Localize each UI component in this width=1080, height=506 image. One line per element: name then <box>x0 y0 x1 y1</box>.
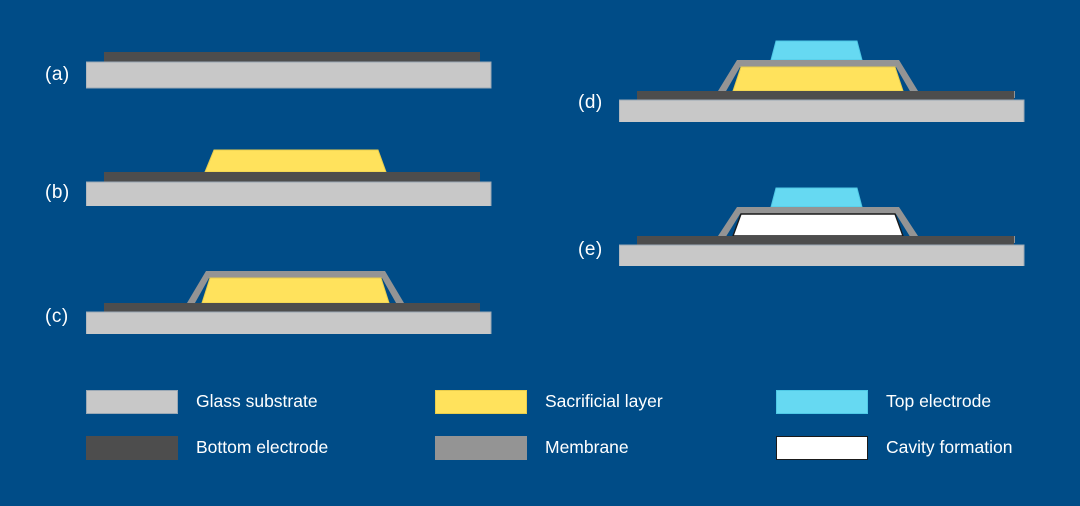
glass-substrate-layer <box>619 245 1024 266</box>
panel-a-diagram <box>86 44 496 94</box>
panel-d <box>619 36 1031 122</box>
legend-label-bottom-electrode: Bottom electrode <box>196 439 328 457</box>
glass-substrate-layer <box>619 100 1024 122</box>
panel-label-d: (d) <box>578 92 603 114</box>
glass-substrate-layer <box>86 312 491 334</box>
bottom-electrode-layer <box>637 236 1014 245</box>
top-electrode-shape <box>771 41 862 60</box>
legend-item-sacrificial-layer: Sacrificial layer <box>435 390 663 414</box>
legend-label-sacrificial-layer: Sacrificial layer <box>545 393 663 411</box>
panel-b-diagram <box>86 144 496 206</box>
legend-item-membrane: Membrane <box>435 436 663 460</box>
glass-substrate-layer <box>86 182 491 206</box>
top-electrode-shape <box>771 188 862 207</box>
panel-d-diagram <box>619 36 1031 122</box>
glass-substrate-layer <box>86 62 491 88</box>
legend-item-glass-substrate: Glass substrate <box>86 390 328 414</box>
sacrificial-layer-shape <box>205 150 386 172</box>
panel-c-diagram <box>86 262 496 334</box>
legend-column-3: Top electrode Cavity formation <box>776 390 1012 482</box>
panel-c <box>86 262 496 334</box>
legend-label-membrane: Membrane <box>545 439 629 457</box>
legend-swatch-top-electrode <box>776 390 868 414</box>
panel-b <box>86 144 496 206</box>
legend-item-top-electrode: Top electrode <box>776 390 1012 414</box>
legend-label-glass-substrate: Glass substrate <box>196 393 318 411</box>
legend-swatch-membrane <box>435 436 527 460</box>
bottom-electrode-layer <box>104 172 480 182</box>
sacrificial-layer-shape <box>733 67 903 91</box>
panel-label-a: (a) <box>45 64 70 86</box>
panel-label-b: (b) <box>45 182 70 204</box>
panel-e <box>619 184 1031 266</box>
legend-swatch-sacrificial-layer <box>435 390 527 414</box>
legend-label-cavity-formation: Cavity formation <box>886 439 1012 457</box>
panel-e-diagram <box>619 184 1031 266</box>
bottom-electrode-layer <box>104 52 480 62</box>
legend-column-2: Sacrificial layer Membrane <box>435 390 663 482</box>
legend-item-cavity-formation: Cavity formation <box>776 436 1012 460</box>
legend-column-1: Glass substrate Bottom electrode <box>86 390 328 482</box>
legend-swatch-cavity-formation <box>776 436 868 460</box>
legend-swatch-bottom-electrode <box>86 436 178 460</box>
sacrificial-layer-shape <box>202 278 389 303</box>
panel-label-c: (c) <box>45 306 69 328</box>
panel-a <box>86 44 496 94</box>
panel-label-e: (e) <box>578 239 603 261</box>
legend-label-top-electrode: Top electrode <box>886 393 991 411</box>
legend-swatch-glass-substrate <box>86 390 178 414</box>
legend-item-bottom-electrode: Bottom electrode <box>86 436 328 460</box>
cavity-shape <box>733 214 903 236</box>
bottom-electrode-layer <box>637 91 1014 100</box>
bottom-electrode-layer <box>104 303 480 312</box>
process-flow-figure: (a) (b) (c) <box>0 0 1080 506</box>
